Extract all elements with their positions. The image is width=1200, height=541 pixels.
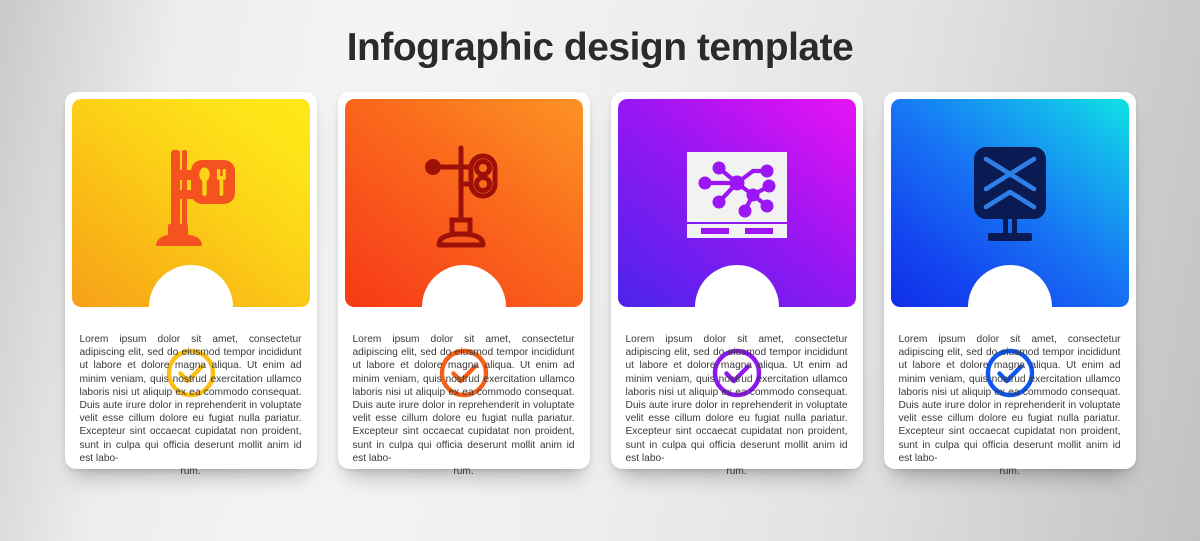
infographic-card[interactable]: Lorem ipsum dolor sit amet, consectetur …	[884, 92, 1136, 469]
card-color-panel	[72, 99, 310, 307]
card-body-last-line: rum.	[899, 465, 1121, 478]
page-title: Infographic design template	[0, 23, 1200, 73]
card-color-panel	[891, 99, 1129, 307]
infographic-card[interactable]: Lorem ipsum dolor sit amet, consectetur …	[338, 92, 590, 469]
card-body-text: Lorem ipsum dolor sit amet, consectetur …	[80, 333, 302, 491]
card-body-last-line: rum.	[80, 465, 302, 478]
card-body-text: Lorem ipsum dolor sit amet, consectetur …	[353, 333, 575, 491]
card-body-paragraph: Lorem ipsum dolor sit amet, consectetur …	[80, 334, 302, 464]
infographic-card[interactable]: Lorem ipsum dolor sit amet, consectetur …	[65, 92, 317, 469]
card-body-last-line: rum.	[626, 465, 848, 478]
infographic-card[interactable]: Lorem ipsum dolor sit amet, consectetur …	[611, 92, 863, 469]
card-color-panel	[618, 99, 856, 307]
card-body-text: Lorem ipsum dolor sit amet, consectetur …	[626, 333, 848, 491]
card-body-paragraph: Lorem ipsum dolor sit amet, consectetur …	[353, 334, 575, 464]
card-body-paragraph: Lorem ipsum dolor sit amet, consectetur …	[626, 334, 848, 464]
infographic-cards-row: Lorem ipsum dolor sit amet, consectetur …	[0, 92, 1200, 469]
card-body-last-line: rum.	[353, 465, 575, 478]
card-color-panel	[345, 99, 583, 307]
card-body-paragraph: Lorem ipsum dolor sit amet, consectetur …	[899, 334, 1121, 464]
card-body-text: Lorem ipsum dolor sit amet, consectetur …	[899, 333, 1121, 491]
